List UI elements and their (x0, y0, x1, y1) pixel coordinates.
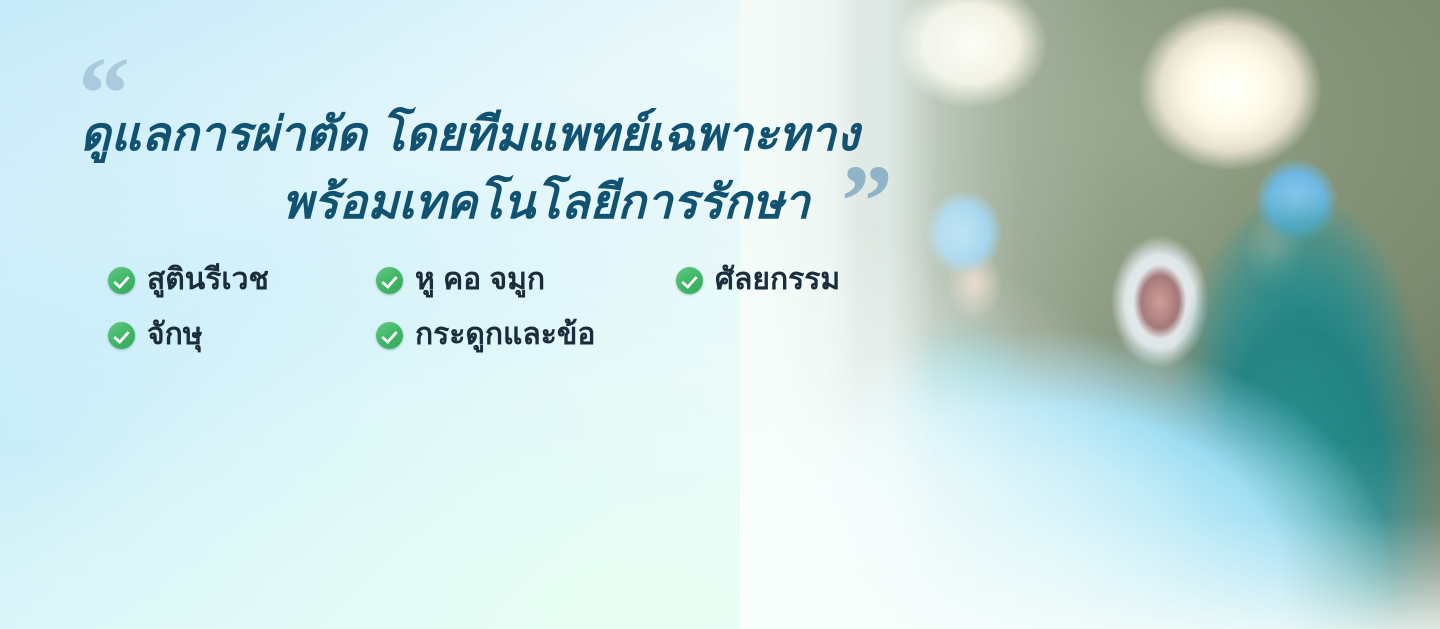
check-circle-icon (376, 322, 403, 349)
checklist-row: จักษุ กระดูกและข้อ (108, 313, 938, 368)
checklist-item-obstetrics-gynecology[interactable]: สูตินรีเวช (108, 258, 376, 302)
checklist-item-orthopedics[interactable]: กระดูกและข้อ (376, 313, 676, 357)
promo-banner: “ ดูแลการผ่าตัด โดยทีมแพทย์เฉพาะทาง พร้อ… (0, 0, 1440, 629)
checklist-item-empty (676, 313, 936, 357)
check-circle-icon (108, 322, 135, 349)
closing-quote-icon: ” (841, 150, 891, 254)
checklist-item-label: ศัลยกรรม (715, 265, 840, 295)
check-circle-icon (108, 267, 135, 294)
headline-line-1: ดูแลการผ่าตัด โดยทีมแพทย์เฉพาะทาง (60, 100, 960, 168)
banner-content: “ ดูแลการผ่าตัด โดยทีมแพทย์เฉพาะทาง พร้อ… (0, 0, 980, 629)
checklist-row: สูตินรีเวช หู คอ จมูก ศัลยกรรม (108, 258, 938, 313)
checklist-item-surgery[interactable]: ศัลยกรรม (676, 258, 936, 302)
check-circle-icon (376, 267, 403, 294)
headline: ดูแลการผ่าตัด โดยทีมแพทย์เฉพาะทาง พร้อมเ… (60, 100, 960, 236)
checklist-item-label: จักษุ (147, 320, 203, 350)
checklist-item-ophthalmology[interactable]: จักษุ (108, 313, 376, 357)
headline-line-2: พร้อมเทคโนโลยีการรักษา (60, 168, 960, 236)
check-circle-icon (676, 267, 703, 294)
checklist-item-label: สูตินรีเวช (147, 265, 269, 295)
checklist-item-label: กระดูกและข้อ (415, 320, 595, 350)
checklist-item-label: หู คอ จมูก (415, 265, 545, 295)
specialty-checklist: สูตินรีเวช หู คอ จมูก ศัลยกรรม จักษุ (108, 258, 938, 368)
checklist-item-ent[interactable]: หู คอ จมูก (376, 258, 676, 302)
